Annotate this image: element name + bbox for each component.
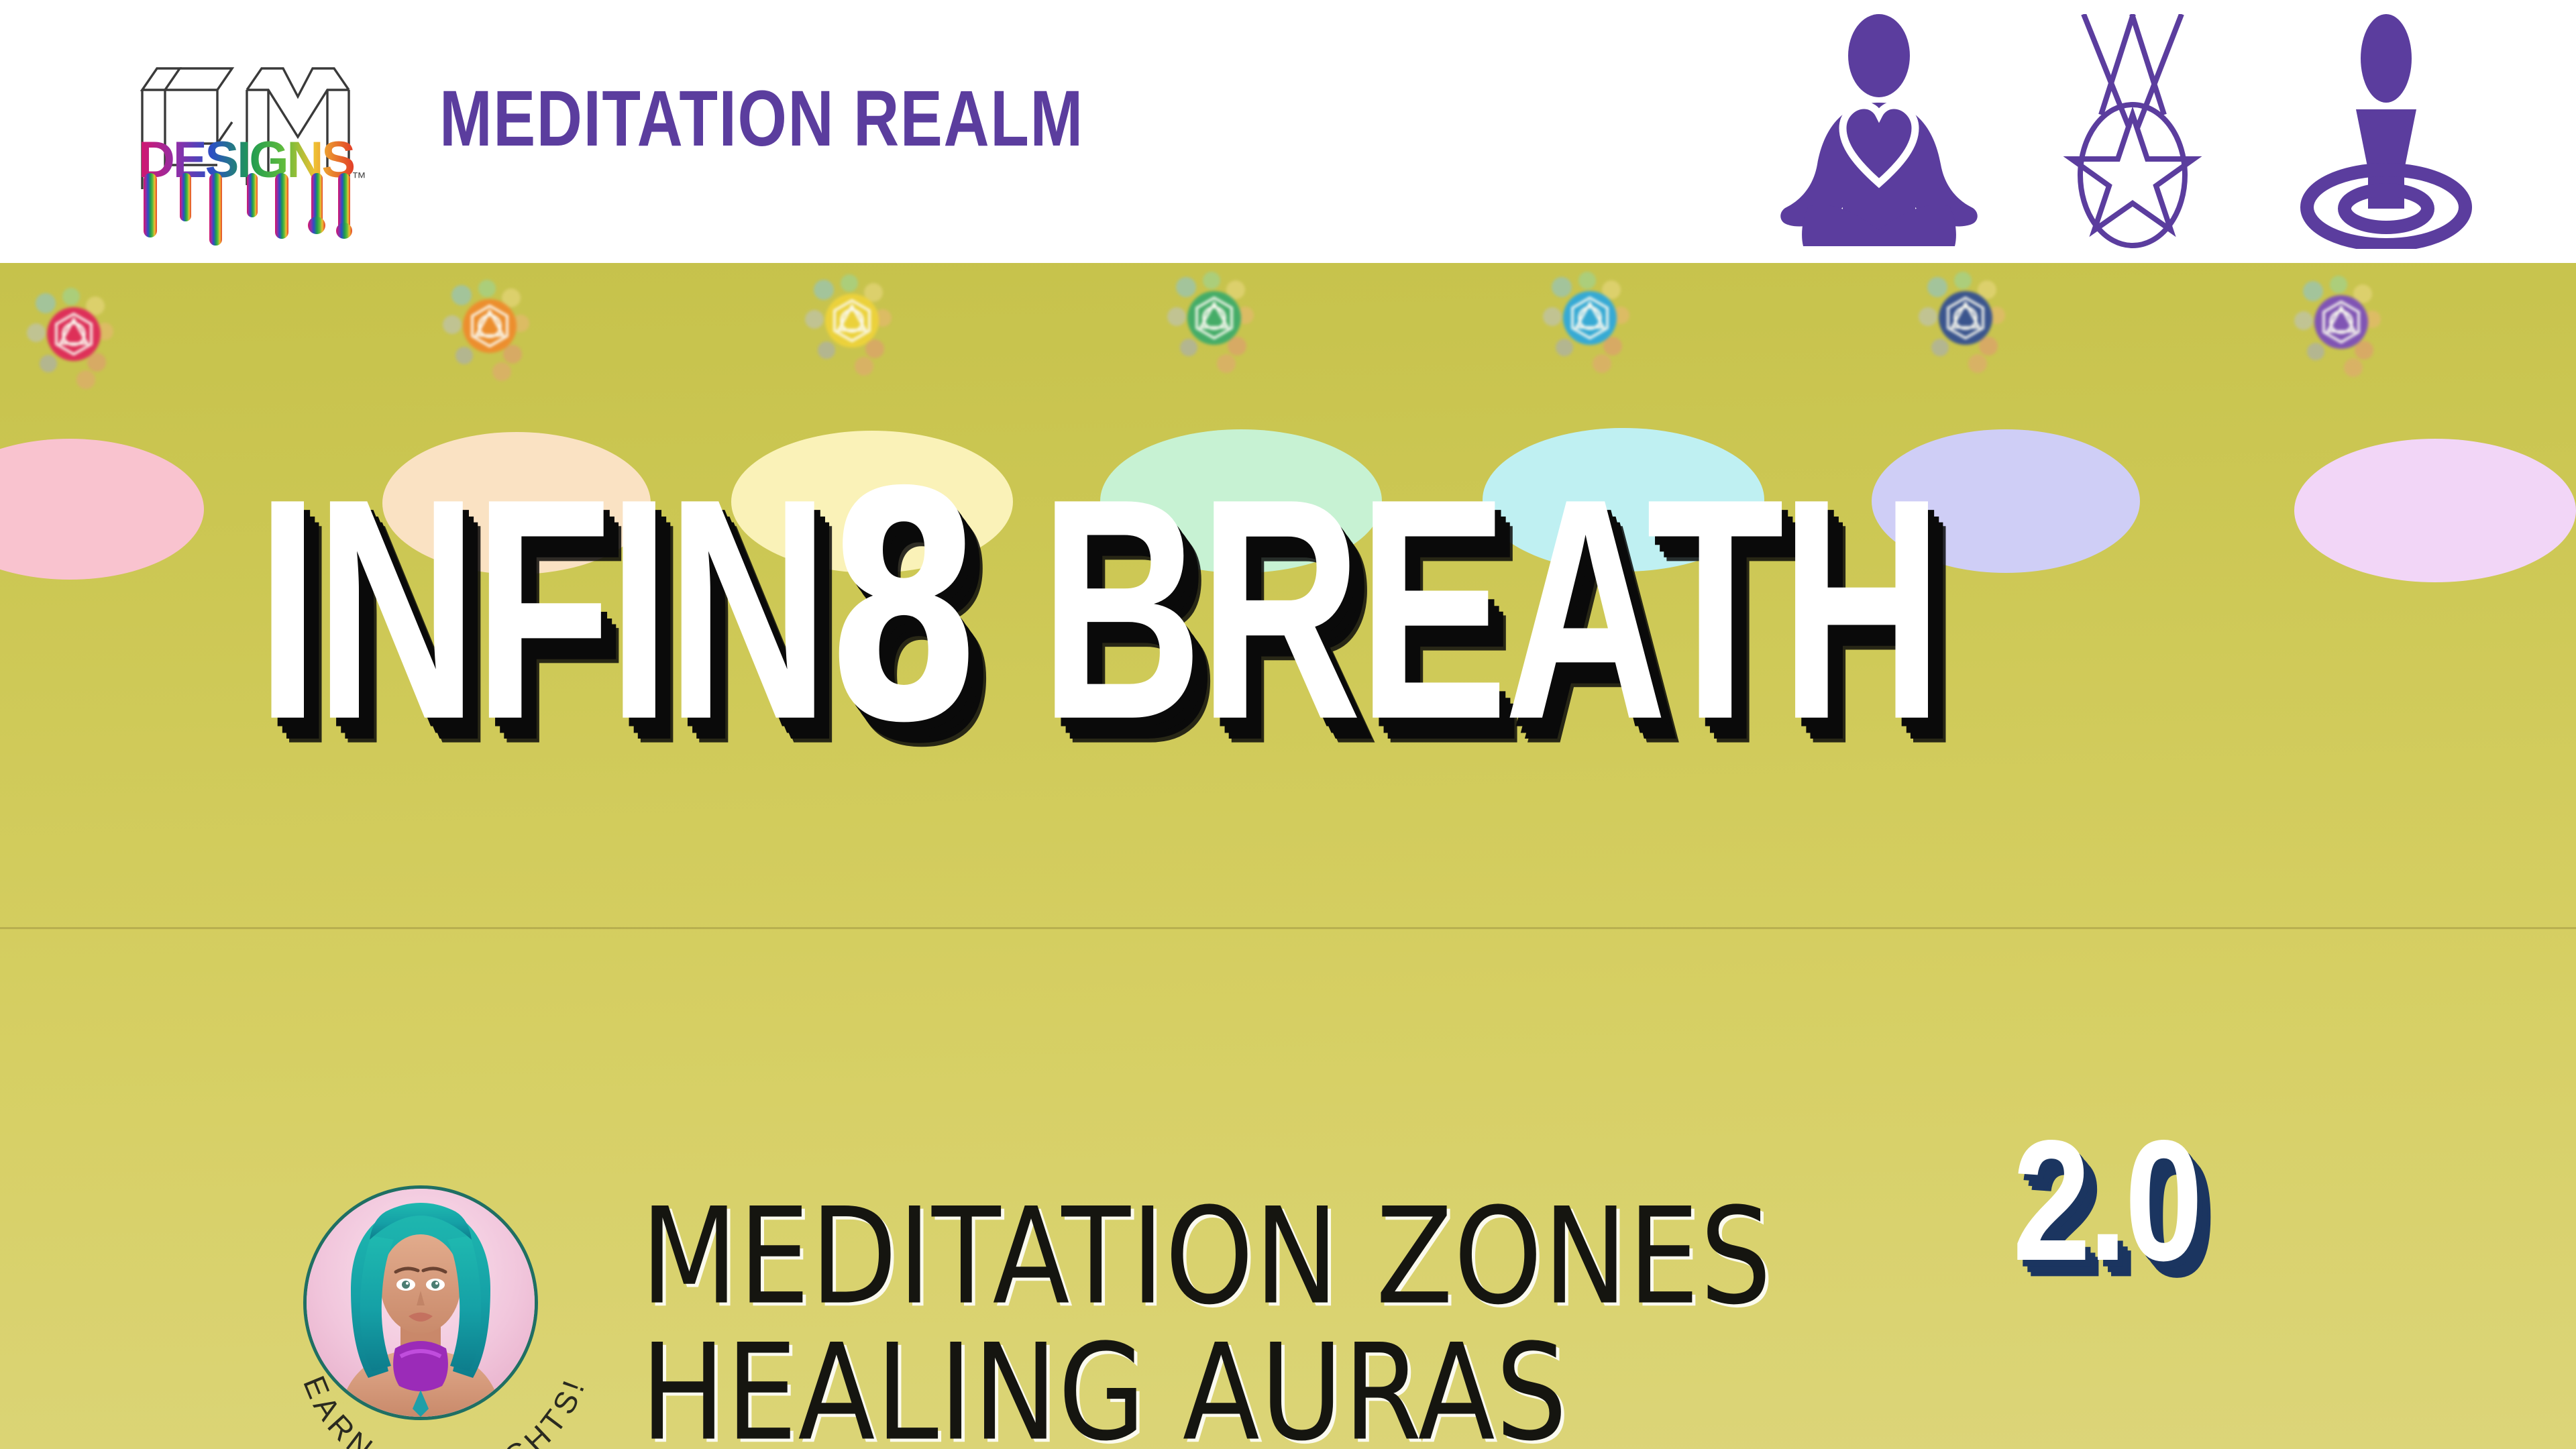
hero-title-part1: INFIN	[256, 433, 825, 784]
hero-stage: INFIN8 BREATH 2.0	[0, 263, 2576, 1449]
hero-title: INFIN8 BREATH	[256, 464, 1939, 755]
lm-designs-logo[interactable]: DESIGNS ™	[115, 17, 373, 248]
chakra-heart-icon	[1147, 263, 1281, 397]
header-bar: DESIGNS ™ MEDITATION REALM	[0, 0, 2576, 263]
chakra-throat-icon	[1523, 263, 1657, 397]
avatar-block[interactable]: EARN LMDELIGHTS!	[288, 1185, 604, 1449]
avatar[interactable]	[303, 1185, 538, 1420]
svg-text:™: ™	[352, 169, 366, 186]
chakra-sacral-icon	[423, 271, 557, 405]
mat-root-pink	[0, 439, 204, 580]
chakra-crown-icon	[2274, 267, 2408, 401]
chakra-solar-icon	[785, 266, 919, 400]
hero-title-eight: 8	[825, 426, 981, 792]
floor-horizon-line	[0, 927, 2576, 929]
header-icon-group	[1768, 0, 2497, 263]
promo-banner: DESIGNS ™ MEDITATION REALM	[0, 0, 2576, 1449]
person-aura-ripple-icon[interactable]	[2275, 14, 2497, 249]
mat-crown-lavender	[2294, 439, 2576, 582]
hero-subtitle-line-1: MEDITATION ZONES	[641, 1190, 1772, 1323]
mat-crown-lavender-surface	[2294, 439, 2576, 582]
version-badge: 2.0	[2012, 1115, 2200, 1287]
hero-subtitle-line-2: HEALING AURAS	[641, 1326, 1568, 1449]
page-title: MEDITATION REALM	[439, 79, 1084, 158]
medal-star-icon[interactable]	[2022, 14, 2243, 249]
hero-title-part2: BREATH	[981, 433, 1939, 784]
chakra-root-icon	[7, 279, 141, 413]
meditating-person-heart-icon[interactable]	[1768, 14, 1990, 249]
chakra-thirdeye-icon	[1898, 263, 2033, 397]
mat-root-pink-surface	[0, 439, 204, 580]
